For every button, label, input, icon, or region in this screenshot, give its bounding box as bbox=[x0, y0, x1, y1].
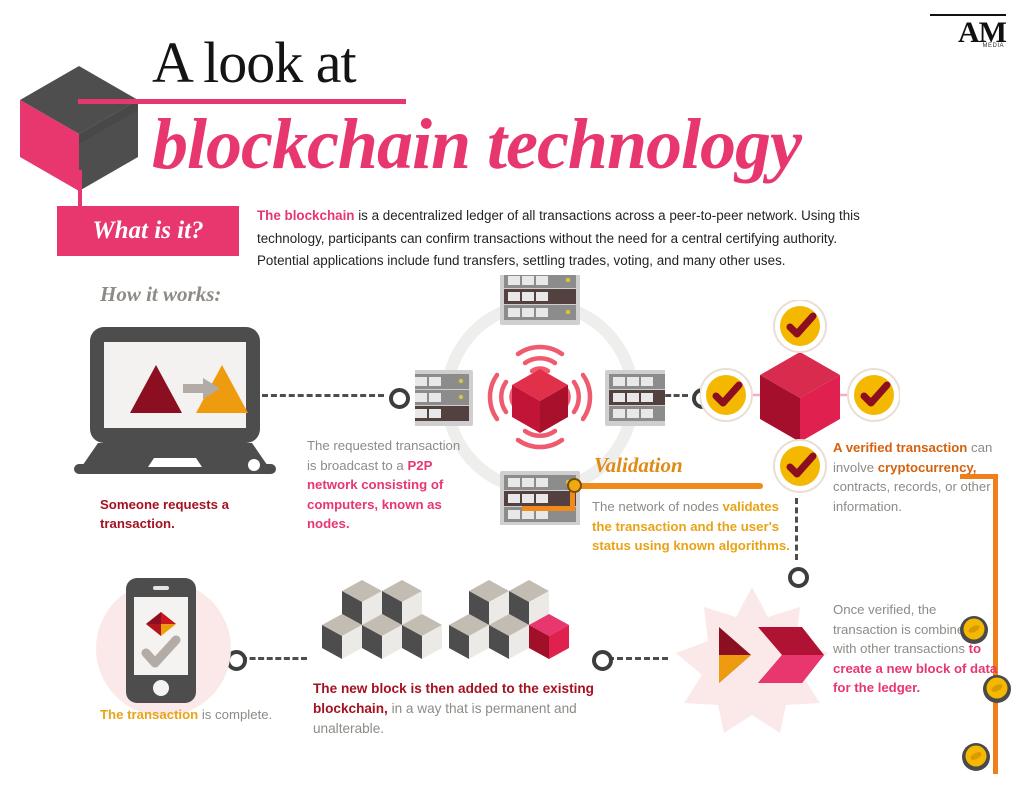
caption-complete-plain: is complete. bbox=[198, 707, 272, 722]
title-line-2: blockchain technology bbox=[152, 106, 801, 182]
validation-elbow-horizontal bbox=[522, 506, 575, 511]
coin-icon-2 bbox=[982, 674, 1012, 704]
caption-someone-requests: Someone requests a transaction. bbox=[100, 495, 280, 533]
what-is-it-lead: The blockchain bbox=[257, 208, 354, 223]
caption-verified-plain-2: contracts, records, or other information… bbox=[833, 479, 991, 514]
how-it-works-heading: How it works: bbox=[100, 282, 221, 307]
caption-validation-plain: The network of nodes bbox=[592, 499, 722, 514]
laptop-icon bbox=[70, 325, 280, 475]
caption-transaction-complete: The transaction is complete. bbox=[100, 705, 290, 725]
connector-phone-to-chain bbox=[241, 657, 307, 660]
what-is-it-label: What is it? bbox=[92, 217, 203, 245]
caption-verified-bold-1: A verified transaction bbox=[833, 440, 967, 455]
caption-once-plain: Once verified, the transaction is combin… bbox=[833, 602, 972, 656]
phone-check-icon bbox=[126, 578, 196, 703]
coin-icon-1 bbox=[959, 615, 989, 645]
what-is-it-badge: What is it? bbox=[57, 206, 239, 256]
connector-node-1 bbox=[389, 388, 410, 409]
caption-verified-bold-2: cryptocurrency, bbox=[878, 460, 977, 475]
coin-icon-3 bbox=[961, 742, 991, 772]
hero-elbow-top bbox=[78, 99, 136, 104]
connector-laptop-to-network bbox=[262, 394, 384, 397]
burst-chevron-icon bbox=[672, 585, 832, 735]
caption-p2p-broadcast: The requested transaction is broadcast t… bbox=[307, 436, 467, 534]
caption-p2p-plain: The requested transaction is broadcast t… bbox=[307, 438, 460, 473]
title-line-1: A look at bbox=[152, 34, 356, 92]
connector-chain-to-burst bbox=[608, 657, 668, 660]
am-media-logo: AM MEDIA bbox=[922, 14, 1006, 49]
validation-dot bbox=[567, 478, 582, 493]
caption-new-block: The new block is then added to the exist… bbox=[313, 679, 613, 739]
caption-complete-bold: The transaction bbox=[100, 707, 198, 722]
infographic-page: AM MEDIA A look at blockchain technology… bbox=[0, 0, 1024, 790]
validation-title: Validation bbox=[594, 453, 683, 478]
what-is-it-description: The blockchain is a decentralized ledger… bbox=[257, 205, 887, 273]
cube-chain-icon bbox=[322, 580, 597, 675]
caption-validation: The network of nodes validates the trans… bbox=[592, 497, 797, 556]
